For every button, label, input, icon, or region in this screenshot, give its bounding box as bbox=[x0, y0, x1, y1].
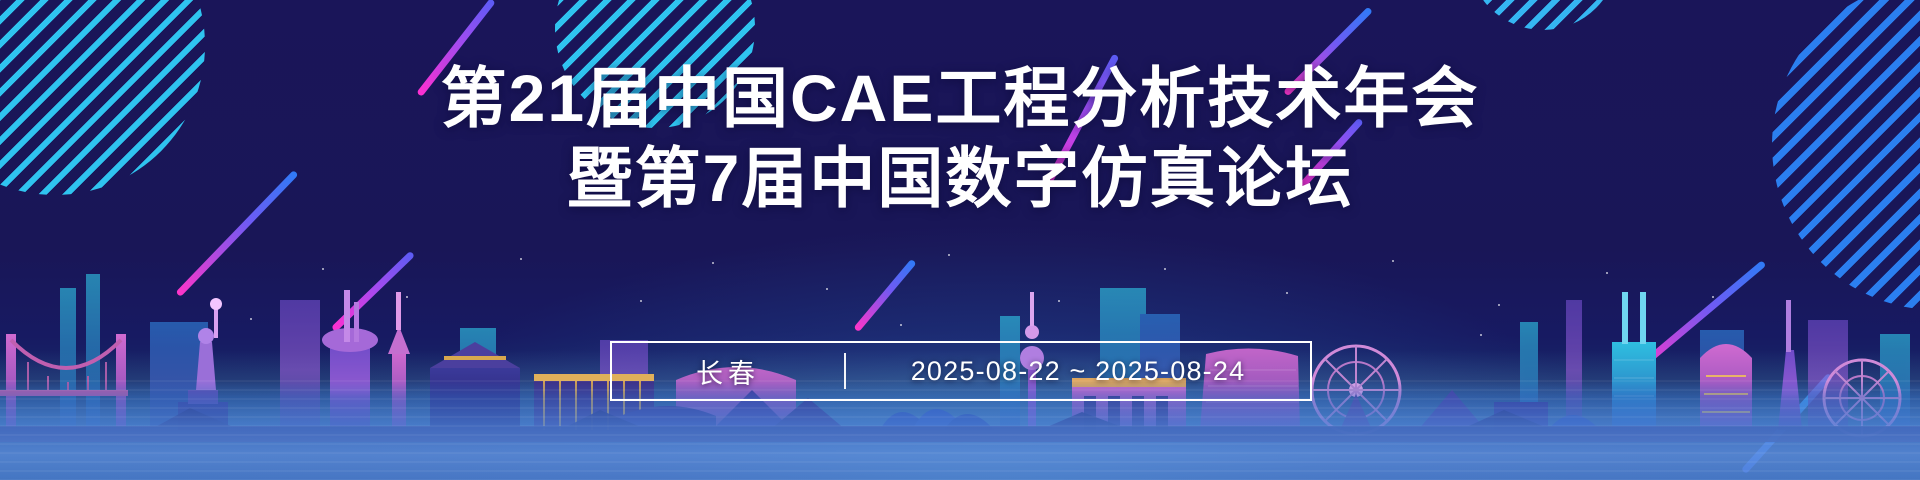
conference-banner: 第21届中国CAE工程分析技术年会 暨第7届中国数字仿真论坛 长春 2025-0… bbox=[0, 0, 1920, 480]
event-city: 长春 bbox=[612, 352, 844, 391]
title-line-1: 第21届中国CAE工程分析技术年会 bbox=[0, 58, 1920, 138]
banner-title: 第21届中国CAE工程分析技术年会 暨第7届中国数字仿真论坛 bbox=[0, 58, 1920, 218]
title-line-2: 暨第7届中国数字仿真论坛 bbox=[0, 138, 1920, 218]
event-date-range: 2025-08-22 ~ 2025-08-24 bbox=[846, 356, 1310, 387]
event-info-box: 长春 2025-08-22 ~ 2025-08-24 bbox=[610, 341, 1312, 401]
info-divider bbox=[844, 353, 846, 389]
